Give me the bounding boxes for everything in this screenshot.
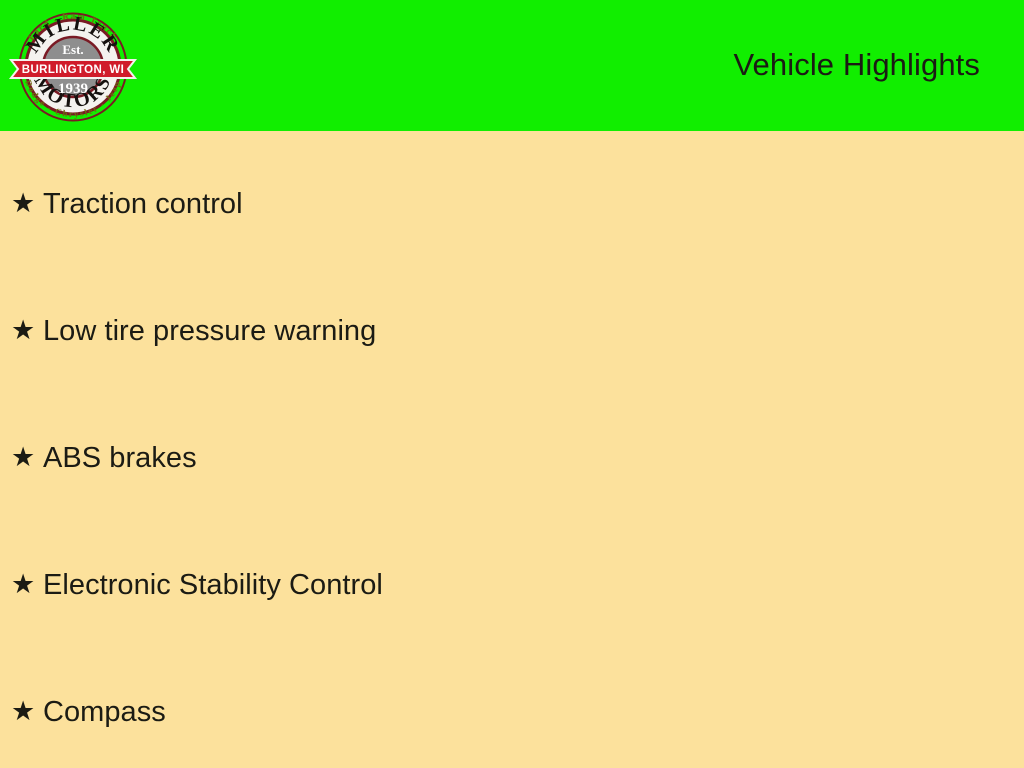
list-item: ★ Compass bbox=[0, 686, 1024, 738]
highlights-list: ★ Traction control ★ Low tire pressure w… bbox=[0, 131, 1024, 768]
slide: Ford - Ram Truck Dodge - Chrysler - Jeep… bbox=[0, 0, 1024, 768]
list-item-label: Compass bbox=[43, 694, 166, 730]
logo-badge-graphic: Ford - Ram Truck Dodge - Chrysler - Jeep… bbox=[7, 3, 140, 131]
star-bullet-icon: ★ bbox=[11, 444, 43, 471]
list-item: ★ Traction control bbox=[0, 178, 1024, 230]
miller-motors-logo: Ford - Ram Truck Dodge - Chrysler - Jeep… bbox=[7, 3, 140, 131]
list-item: ★ ABS brakes bbox=[0, 432, 1024, 484]
star-bullet-icon: ★ bbox=[11, 698, 43, 725]
logo-ribbon-text: BURLINGTON, WI bbox=[22, 64, 125, 76]
header-band: Ford - Ram Truck Dodge - Chrysler - Jeep… bbox=[0, 0, 1024, 131]
logo-est-label: Est. bbox=[62, 42, 83, 57]
star-bullet-icon: ★ bbox=[11, 190, 43, 217]
star-bullet-icon: ★ bbox=[11, 317, 43, 344]
list-item-label: ABS brakes bbox=[43, 440, 197, 476]
list-item-label: Electronic Stability Control bbox=[43, 567, 383, 603]
logo-ribbon: BURLINGTON, WI bbox=[11, 60, 135, 78]
star-bullet-icon: ★ bbox=[11, 571, 43, 598]
list-item: ★ Electronic Stability Control bbox=[0, 559, 1024, 611]
list-item-label: Low tire pressure warning bbox=[43, 313, 376, 349]
logo-est-year: 1939 bbox=[58, 81, 88, 97]
list-item: ★ Low tire pressure warning bbox=[0, 305, 1024, 357]
page-title: Vehicle Highlights bbox=[733, 46, 980, 84]
list-item-label: Traction control bbox=[43, 186, 243, 222]
